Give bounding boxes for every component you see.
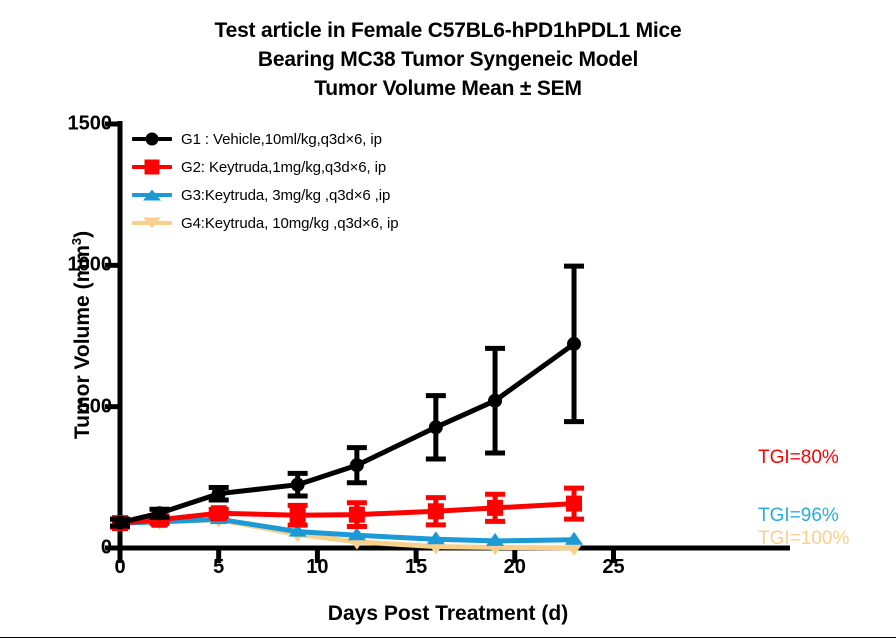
y-axis-title-exponent: 3 [69,238,84,245]
data-point-marker [487,500,503,516]
data-point-marker [212,487,226,501]
x-tick-label: 10 [287,556,347,579]
data-point-marker [290,507,306,523]
legend-item-label: G3:Keytruda, 3mg/kg ,q3d×6 ,ip [181,187,390,204]
tgi-annotation-g3: TGI=96% [758,505,839,527]
data-point-marker [291,478,305,492]
tgi-annotation-g2: TGI=80% [758,447,839,469]
legend-item-g4[interactable]: G4:Keytruda, 10mg/kg ,q3d×6, ip [132,210,462,236]
series-layer [110,266,584,556]
data-point-marker [211,505,227,521]
y-axis-title-paren: ) [71,231,94,238]
x-tick-label: 5 [189,556,249,579]
x-tick-label: 15 [386,556,446,579]
legend-key-icon [132,129,172,149]
chart-figure: Test article in Female C57BL6-hPD1hPDL1 … [0,0,896,644]
data-point-marker [428,503,444,519]
data-point-marker [152,506,166,520]
y-axis-title-text: Tumor Volume (mm [71,245,94,439]
legend-item-g1[interactable]: G1 : Vehicle,10ml/kg,q3d×6, ip [132,126,462,152]
legend-item-label: G2: Keytruda,1mg/kg,q3d×6, ip [181,159,386,176]
data-point-marker [488,394,502,408]
data-point-marker [349,507,365,523]
chart-legend: G1 : Vehicle,10ml/kg,q3d×6, ipG2: Keytru… [132,126,462,238]
bottom-divider [0,637,896,638]
tgi-annotation-g4: TGI=100% [758,528,849,550]
data-point-marker [566,496,582,512]
legend-key-icon [132,157,172,177]
x-tick-label: 0 [90,556,150,579]
legend-item-g2[interactable]: G2: Keytruda,1mg/kg,q3d×6, ip [132,154,462,180]
x-tick-label: 20 [485,556,545,579]
legend-item-label: G1 : Vehicle,10ml/kg,q3d×6, ip [181,131,382,148]
legend-item-label: G4:Keytruda, 10mg/kg ,q3d×6, ip [181,215,398,232]
x-tick-labels: 0510152025 [0,556,896,586]
x-tick-label: 25 [584,556,644,579]
data-point-marker [429,420,443,434]
x-axis-title: Days Post Treatment (d) [0,602,896,626]
y-tick-label: 1500 [32,113,112,136]
legend-key-icon [132,185,172,205]
data-point-marker [113,516,127,530]
series-1 [110,266,584,529]
legend-item-g3[interactable]: G3:Keytruda, 3mg/kg ,q3d×6 ,ip [132,182,462,208]
data-point-marker [567,337,581,351]
y-axis-title: Tumor Volume (mm3) [69,135,95,535]
data-point-marker [350,458,364,472]
series-2 [110,488,584,531]
legend-key-icon [132,213,172,233]
